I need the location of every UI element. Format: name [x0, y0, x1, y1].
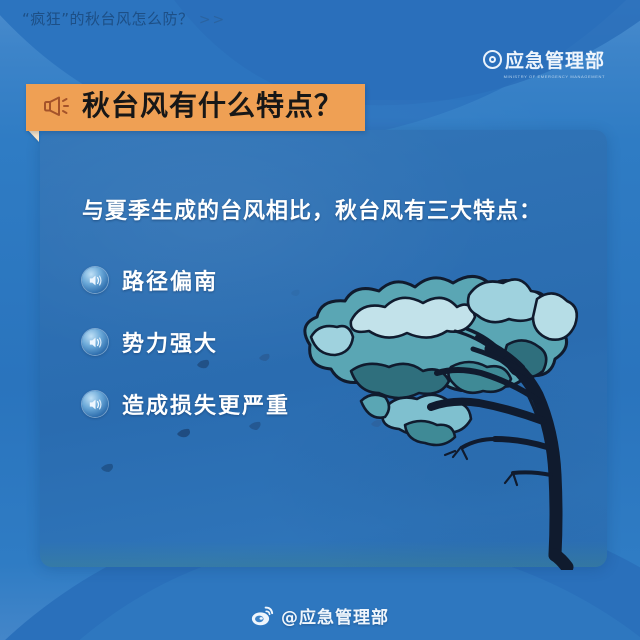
lead-paragraph: 与夏季生成的台风相比，秋台风有三大特点： — [82, 193, 542, 225]
list-item: 势力强大 — [82, 314, 290, 370]
ministry-logo: 应急管理部 MINISTRY OF EMERGENCY MANAGEMENT — [483, 46, 605, 79]
list-item: 造成损失更严重 — [82, 376, 290, 432]
flying-leaf-icon — [290, 288, 302, 297]
tree-leaf-sprigs — [445, 447, 517, 485]
flying-leaf-icon — [100, 462, 116, 473]
logo-name-en: MINISTRY OF EMERGENCY MANAGEMENT — [504, 74, 605, 79]
wind-bent-tree-illustration — [255, 225, 625, 570]
header-title-text: “疯狂”的秋台风怎么防？ — [22, 10, 194, 28]
section-banner: 秋台风有什么特点？ — [26, 84, 365, 131]
poster-canvas: “疯狂”的秋台风怎么防？ >> 应急管理部 MINISTRY OF EMERGE… — [0, 0, 640, 640]
weibo-icon — [251, 606, 274, 626]
list-item-label: 造成损失更严重 — [122, 388, 290, 420]
list-item-label: 势力强大 — [122, 326, 218, 358]
megaphone-icon — [42, 94, 72, 118]
header-title: “疯狂”的秋台风怎么防？ >> — [22, 8, 226, 29]
list-item: 路径偏南 — [82, 252, 290, 308]
at-circle-icon — [483, 50, 502, 69]
footer-watermark: @应急管理部 — [0, 603, 640, 628]
logo-row: 应急管理部 — [483, 46, 605, 73]
header-bar: “疯狂”的秋台风怎么防？ >> — [0, 0, 640, 46]
list-item-label: 路径偏南 — [122, 264, 218, 296]
speaker-icon — [82, 391, 108, 417]
feature-list: 路径偏南 势力强大 造成损失更严重 — [82, 252, 290, 438]
speaker-icon — [82, 267, 108, 293]
logo-name-cn: 应急管理部 — [505, 46, 605, 73]
header-arrows-icon[interactable]: >> — [199, 12, 226, 28]
speaker-icon — [82, 329, 108, 355]
flying-leaf-icon — [370, 418, 384, 428]
footer-handle: @应急管理部 — [281, 603, 389, 628]
banner-title: 秋台风有什么特点？ — [82, 91, 343, 122]
